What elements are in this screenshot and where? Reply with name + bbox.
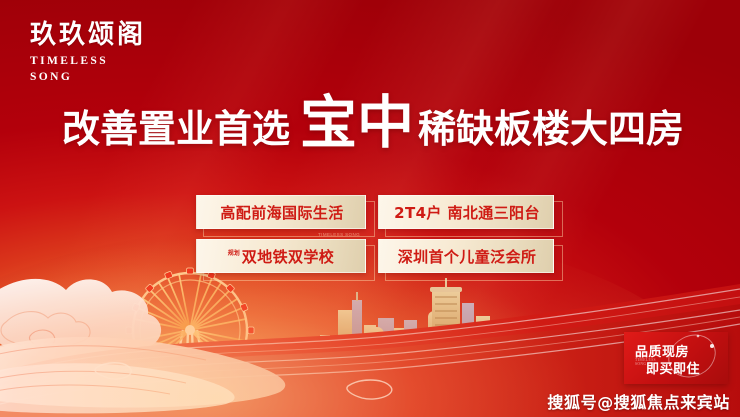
brand-name-en-line2: SONG [30,70,146,86]
badge-1-label: 高配前海国际生活 [220,202,343,223]
page-title: 改善置业首选 宝中 稀缺板楼大四房 [62,98,684,153]
brand-logo: 玖玖颂阁 TIMELESS SONG [30,22,146,85]
city-skyline [320,278,665,370]
badge-2-label: 2T4户 南北通三阳台 [394,202,540,223]
badge-1-mini-watermark: TIMELESS SONG [318,232,360,237]
feature-badge-4[interactable]: 深圳首个儿童泛会所 [378,239,554,273]
seal-watermark-line2: SONG [635,362,646,366]
source-watermark: 搜狐号@搜狐焦点来宾站 [547,389,730,413]
ferris-wheel [126,268,254,388]
poster-canvas: 玖玖颂阁 TIMELESS SONG 改善置业首选 宝中 稀缺板楼大四房 高配前… [0,0,740,417]
brand-name-en: TIMELESS SONG [30,54,146,85]
badge-3-label: 双地铁双学校 [242,246,334,267]
feature-badge-grid: 高配前海国际生活 TIMELESS SONG 2T4户 南北通三阳台 规划 双地… [196,195,554,273]
badge-3-sup: 规划 [228,251,240,257]
brand-name-en-line1: TIMELESS [30,54,146,70]
brand-name-cn: 玖玖颂阁 [30,22,146,49]
headline-emphasis: 宝中 [300,98,414,149]
badge-4-label: 深圳首个儿童泛会所 [398,246,537,267]
headline-part1: 改善置业首选 [62,98,290,153]
feature-badge-3[interactable]: 规划 双地铁双学校 [196,239,366,273]
auspicious-clouds [0,279,161,401]
headline-part2: 稀缺板楼大四房 [418,98,684,153]
seal-watermark-line1: TIMELESS [635,358,656,362]
feature-badge-1[interactable]: 高配前海国际生活 TIMELESS SONG [196,195,366,229]
quality-seal-badge: 品质现房 即买即住 TIMELESS SONG [624,332,728,384]
feature-badge-2[interactable]: 2T4户 南北通三阳台 [378,195,554,229]
seal-watermark: TIMELESS SONG [635,358,656,367]
